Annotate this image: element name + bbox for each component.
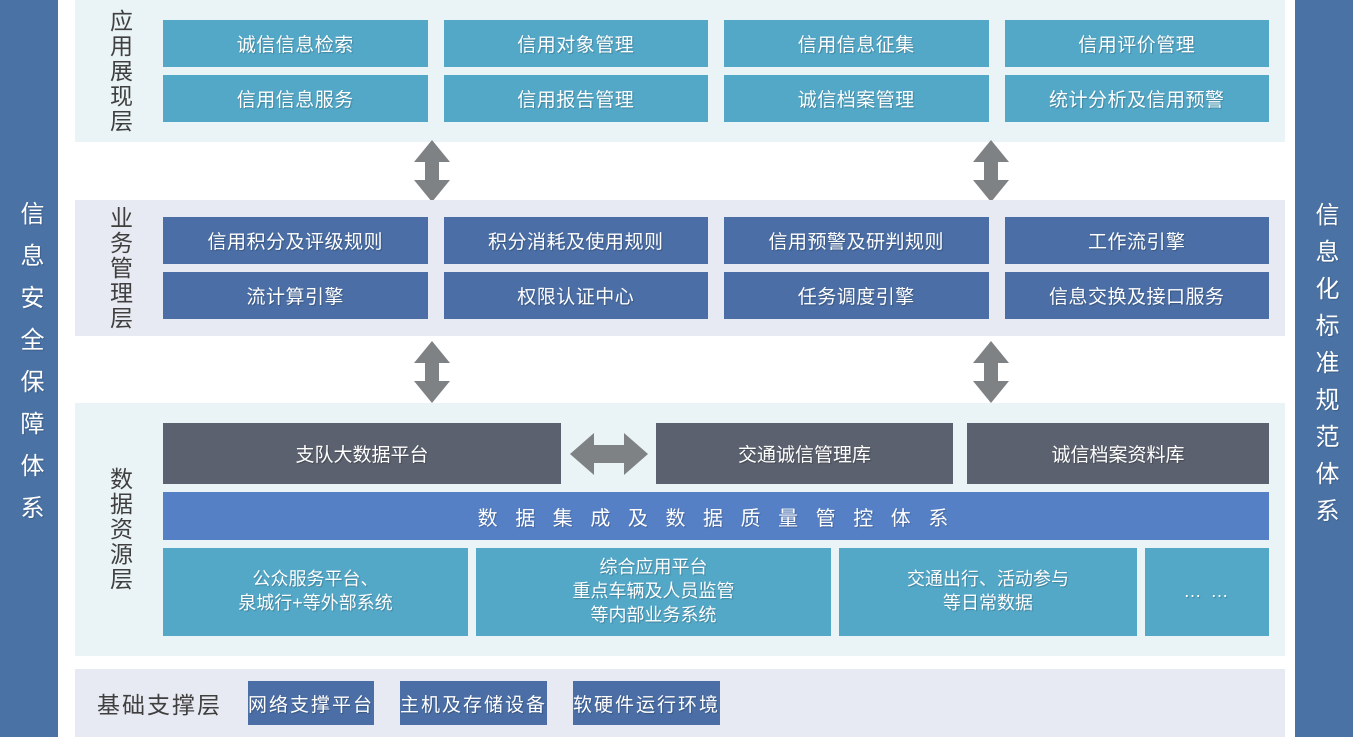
base-layer-inner: 基础支撑层 网络支撑平台 主机及存储设备 软硬件运行环境 [75, 669, 736, 737]
data-source-row: 公众服务平台、 泉城行+等外部系统 综合应用平台 重点车辆及人员监管 等内部业务… [163, 548, 1269, 636]
left-rail-information-security: 信息安全保障体系 [0, 0, 58, 737]
layer-label-application: 应用展现层 [75, 0, 163, 142]
layer-body-application: 诚信信息检索 信用对象管理 信用信息征集 信用评价管理 信用信息服务 信用报告管… [163, 0, 1285, 142]
double-arrow-icon-biz-data-left [412, 341, 452, 403]
tile-credit-warning-rules[interactable]: 信用预警及研判规则 [724, 217, 989, 264]
source-3-line-2: 等日常数据 [907, 592, 1069, 616]
tile-score-usage-rules[interactable]: 积分消耗及使用规则 [444, 217, 709, 264]
application-tile-row-1: 诚信信息检索 信用对象管理 信用信息征集 信用评价管理 [163, 20, 1269, 67]
layer-label-data-text: 数据资源层 [108, 467, 131, 592]
layer-body-business: 信用积分及评级规则 积分消耗及使用规则 信用预警及研判规则 工作流引擎 流计算引… [163, 200, 1285, 336]
tile-credit-info-collect[interactable]: 信用信息征集 [724, 20, 989, 67]
layer-data-resource: 数据资源层 支队大数据平台 交通诚信管理库 诚信档案资料库 数 据 集 成 及 … [75, 403, 1285, 656]
layer-label-application-text: 应用展现层 [108, 9, 131, 134]
box-credit-archive-database[interactable]: 诚信档案资料库 [967, 423, 1269, 484]
source-2-line-3: 等内部业务系统 [573, 604, 735, 628]
source-public-service-platform[interactable]: 公众服务平台、 泉城行+等外部系统 [163, 548, 468, 636]
tile-credit-subject-mgmt[interactable]: 信用对象管理 [444, 20, 709, 67]
layer-label-base: 基础支撑层 [75, 686, 222, 720]
tile-credit-report-mgmt[interactable]: 信用报告管理 [444, 75, 709, 122]
source-ellipsis[interactable]: … … [1145, 548, 1269, 636]
layer-body-data: 支队大数据平台 交通诚信管理库 诚信档案资料库 数 据 集 成 及 数 据 质 … [163, 403, 1285, 656]
right-rail-label: 信息化标准规范体系 [1312, 202, 1336, 535]
tile-workflow-engine[interactable]: 工作流引擎 [1005, 217, 1270, 264]
box-traffic-credit-database[interactable]: 交通诚信管理库 [656, 423, 953, 484]
layer-label-business-text: 业务管理层 [108, 206, 131, 331]
business-tile-row-1: 信用积分及评级规则 积分消耗及使用规则 信用预警及研判规则 工作流引擎 [163, 217, 1269, 264]
tile-exchange-interface[interactable]: 信息交换及接口服务 [1005, 272, 1270, 319]
box-brigade-bigdata-platform[interactable]: 支队大数据平台 [163, 423, 561, 484]
tile-credit-info-service[interactable]: 信用信息服务 [163, 75, 428, 122]
arrow-gap [561, 423, 656, 484]
band-data-integration-quality: 数 据 集 成 及 数 据 质 量 管 控 体 系 [163, 492, 1269, 540]
tile-task-scheduler[interactable]: 任务调度引擎 [724, 272, 989, 319]
tile-network-support-platform[interactable]: 网络支撑平台 [248, 681, 374, 725]
source-2-line-1: 综合应用平台 [573, 556, 735, 580]
source-1-line-2: 泉城行+等外部系统 [238, 592, 393, 616]
layer-business-management: 业务管理层 信用积分及评级规则 积分消耗及使用规则 信用预警及研判规则 工作流引… [75, 200, 1285, 336]
application-tile-row-2: 信用信息服务 信用报告管理 诚信档案管理 统计分析及信用预警 [163, 75, 1269, 122]
tile-statistics-warning[interactable]: 统计分析及信用预警 [1005, 75, 1270, 122]
layer-label-business: 业务管理层 [75, 200, 163, 336]
business-tile-row-2: 流计算引擎 权限认证中心 任务调度引擎 信息交换及接口服务 [163, 272, 1269, 319]
layer-base-support: 基础支撑层 网络支撑平台 主机及存储设备 软硬件运行环境 [75, 669, 1285, 737]
right-rail-standards: 信息化标准规范体系 [1295, 0, 1353, 737]
layer-label-data: 数据资源层 [75, 403, 163, 656]
tile-software-hardware-env[interactable]: 软硬件运行环境 [573, 681, 720, 725]
business-tile-grid: 信用积分及评级规则 积分消耗及使用规则 信用预警及研判规则 工作流引擎 流计算引… [163, 217, 1285, 319]
tile-host-storage-devices[interactable]: 主机及存储设备 [400, 681, 547, 725]
tile-credit-info-search[interactable]: 诚信信息检索 [163, 20, 428, 67]
left-rail-label: 信息安全保障体系 [17, 201, 41, 537]
tile-credit-archive-mgmt[interactable]: 诚信档案管理 [724, 75, 989, 122]
application-tile-grid: 诚信信息检索 信用对象管理 信用信息征集 信用评价管理 信用信息服务 信用报告管… [163, 20, 1285, 122]
double-arrow-icon-app-biz-right [971, 140, 1011, 202]
double-arrow-icon-app-biz-left [412, 140, 452, 202]
architecture-diagram: 信息安全保障体系 信息化标准规范体系 应用展现层 诚信信息检索 信用对象管理 信… [0, 0, 1353, 737]
source-travel-activity-data[interactable]: 交通出行、活动参与 等日常数据 [839, 548, 1137, 636]
data-platform-row: 支队大数据平台 交通诚信管理库 诚信档案资料库 [163, 423, 1269, 484]
tile-auth-center[interactable]: 权限认证中心 [444, 272, 709, 319]
tile-credit-score-rules[interactable]: 信用积分及评级规则 [163, 217, 428, 264]
tile-credit-evaluation[interactable]: 信用评价管理 [1005, 20, 1270, 67]
layer-application-presentation: 应用展现层 诚信信息检索 信用对象管理 信用信息征集 信用评价管理 信用信息服务… [75, 0, 1285, 142]
source-3-line-1: 交通出行、活动参与 [907, 568, 1069, 592]
double-arrow-icon-horizontal [570, 431, 648, 477]
source-1-line-1: 公众服务平台、 [238, 568, 393, 592]
source-integrated-app-platform[interactable]: 综合应用平台 重点车辆及人员监管 等内部业务系统 [476, 548, 831, 636]
tile-stream-compute-engine[interactable]: 流计算引擎 [163, 272, 428, 319]
source-2-line-2: 重点车辆及人员监管 [573, 580, 735, 604]
double-arrow-icon-biz-data-right [971, 341, 1011, 403]
